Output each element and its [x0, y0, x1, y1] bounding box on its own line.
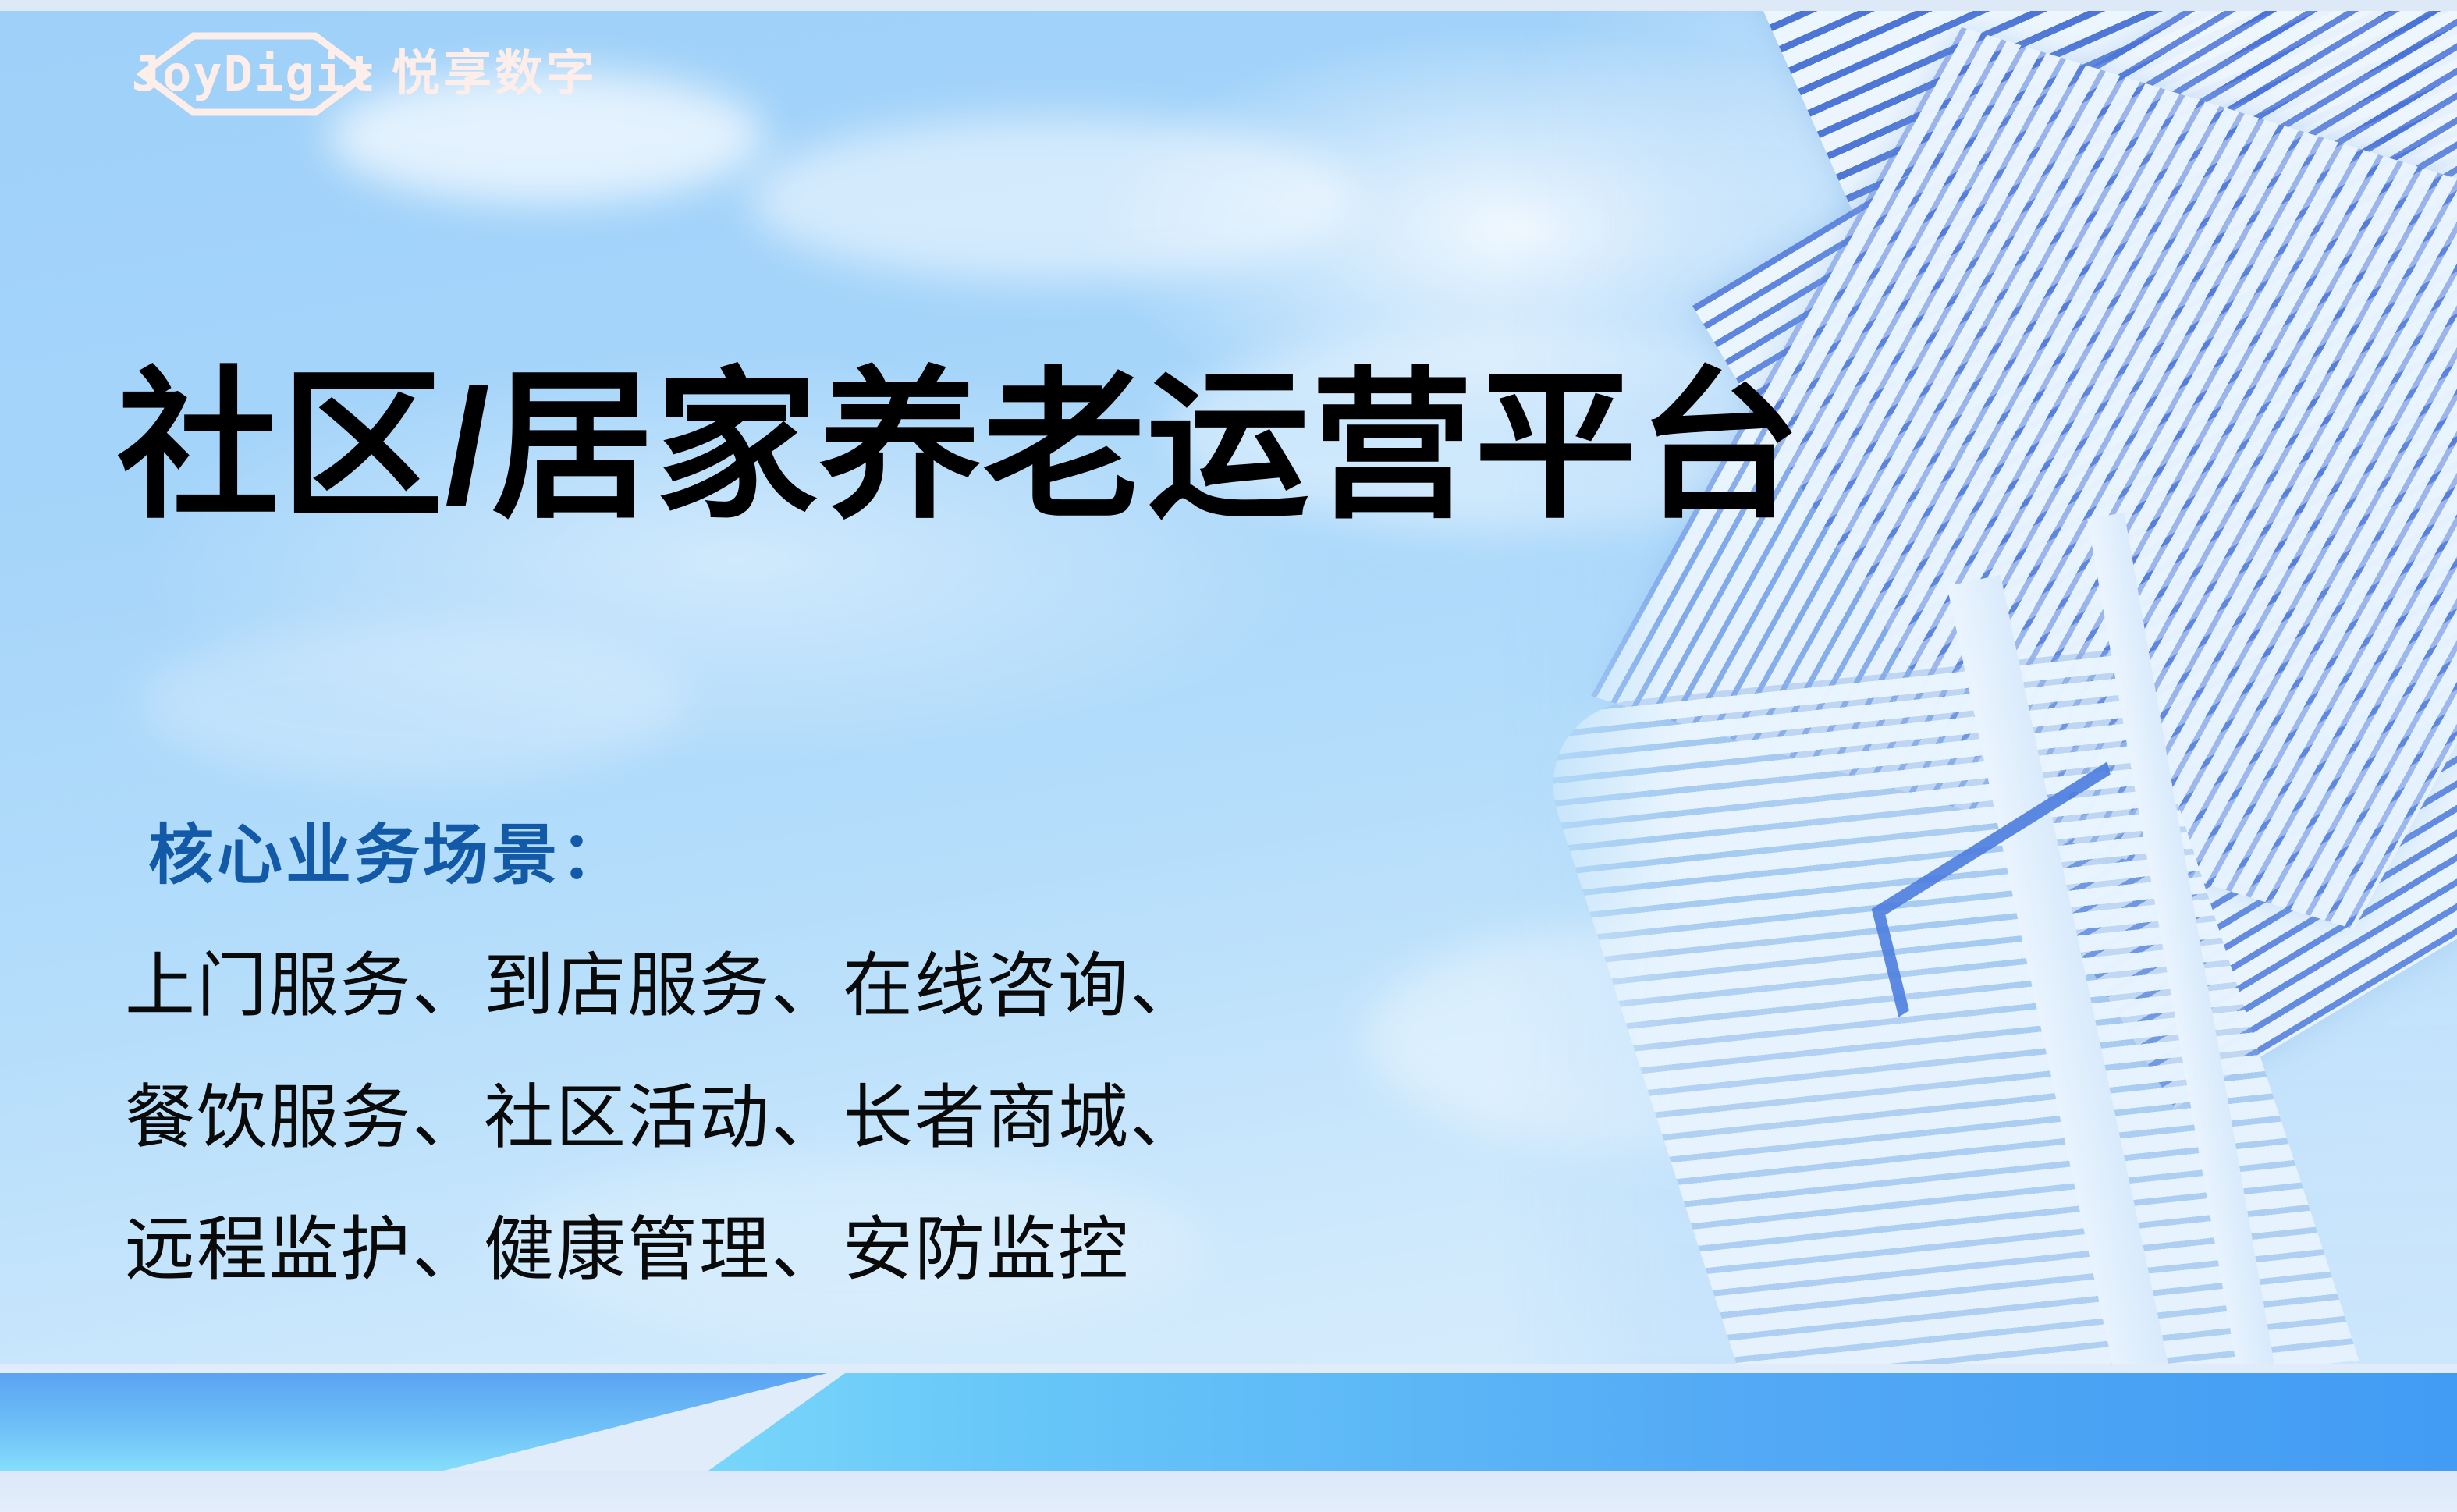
slide-canvas: JoyDigit 悦享数字 社区/居家养老运营平台 核心业务场景： 上门服务、到…	[0, 0, 2457, 1512]
scenario-line: 远程监护、健康管理、安防监控	[125, 1184, 1202, 1316]
section-heading: 核心业务场景：	[148, 819, 629, 891]
logo-wordmark: JoyDigit	[132, 50, 378, 98]
cloud-shape	[749, 117, 1358, 281]
logo-chinese-name: 悦享数字	[392, 50, 598, 98]
brand-logo: JoyDigit 悦享数字	[137, 31, 598, 117]
bottom-decorative-band	[0, 1364, 2457, 1512]
scenario-list: 上门服务、到店服务、在线咨询、 餐饮服务、社区活动、长者商城、 远程监护、健康管…	[125, 921, 1202, 1317]
band-main-parallelogram	[593, 1373, 2457, 1473]
logo-mark: JoyDigit	[137, 31, 371, 117]
band-left-parallelogram	[0, 1373, 827, 1473]
scenario-line: 上门服务、到店服务、在线咨询、	[125, 921, 1202, 1052]
top-edge-strip	[0, 0, 2457, 11]
band-base-strip	[0, 1471, 2457, 1512]
cloud-shape	[140, 624, 687, 780]
scenario-line: 餐饮服务、社区活动、长者商城、	[125, 1052, 1202, 1184]
skyscraper-photo	[1497, 9, 2457, 1382]
page-title: 社区/居家养老运营平台	[117, 358, 1802, 537]
